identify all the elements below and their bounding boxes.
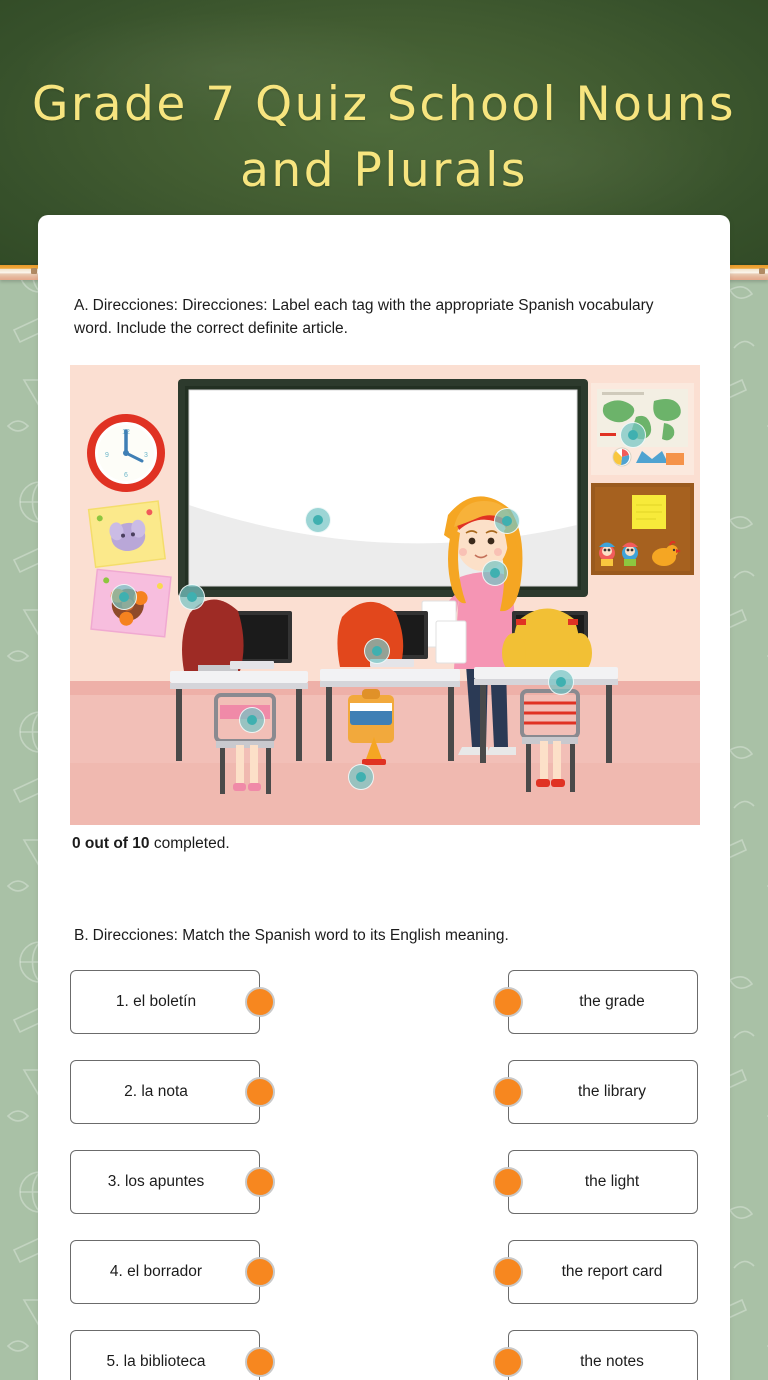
connector-dot-left[interactable] (245, 1347, 275, 1377)
page-title: Grade 7 Quiz School Nouns and Plurals (0, 0, 768, 204)
match-right-label: the notes (580, 1353, 644, 1371)
match-left-label: 4. el borrador (110, 1263, 202, 1281)
connector-dot-left[interactable] (245, 987, 275, 1017)
match-row: 3. los apuntes the light (70, 1150, 698, 1214)
match-right-label: the library (578, 1083, 646, 1101)
chalk-ledge-right (726, 263, 768, 280)
match-right-label: the report card (562, 1263, 663, 1281)
tag-marker[interactable] (305, 507, 331, 533)
tag-marker[interactable] (239, 707, 265, 733)
tag-marker[interactable] (179, 584, 205, 610)
section-a-directions: A.Direcciones: Direcciones: Label each t… (70, 295, 698, 341)
connector-dot-right[interactable] (493, 1257, 523, 1287)
match-row: 1. el boletín the grade (70, 970, 698, 1034)
match-right-box[interactable]: the light (508, 1150, 698, 1214)
match-left-label: 5. la biblioteca (106, 1353, 205, 1371)
progress-status: 0 out of 10 completed. (70, 835, 698, 853)
svg-text:6: 6 (124, 472, 128, 479)
section-b: B.Direcciones: Match the Spanish word to… (70, 853, 698, 1380)
tag-marker[interactable] (348, 764, 374, 790)
match-right-box[interactable]: the notes (508, 1330, 698, 1380)
match-left-label: 1. el boletín (116, 993, 196, 1011)
tag-marker[interactable] (364, 638, 390, 664)
connector-dot-left[interactable] (245, 1167, 275, 1197)
match-row: 4. el borrador the report card (70, 1240, 698, 1304)
match-left-box[interactable]: 1. el boletín (70, 970, 260, 1034)
tag-marker[interactable] (494, 508, 520, 534)
match-right-box[interactable]: the report card (508, 1240, 698, 1304)
connector-dot-left[interactable] (245, 1077, 275, 1107)
svg-text:9: 9 (105, 452, 109, 459)
chalk-ledge-left (0, 263, 40, 280)
match-left-box[interactable]: 5. la biblioteca (70, 1330, 260, 1380)
match-left-label: 2. la nota (124, 1083, 188, 1101)
tag-marker[interactable] (111, 584, 137, 610)
match-right-box[interactable]: the library (508, 1060, 698, 1124)
section-a: A.Direcciones: Direcciones: Label each t… (70, 215, 698, 853)
match-row: 5. la biblioteca the notes (70, 1330, 698, 1380)
connector-dot-right[interactable] (493, 1077, 523, 1107)
section-a-directions-text: Direcciones: Direcciones: Label each tag… (74, 297, 654, 337)
classroom-illustration: 123 69 (70, 365, 700, 825)
match-left-box[interactable]: 2. la nota (70, 1060, 260, 1124)
matching-grid: 1. el boletín the grade 2. la nota the l… (70, 970, 698, 1380)
match-left-box[interactable]: 3. los apuntes (70, 1150, 260, 1214)
tag-marker[interactable] (548, 669, 574, 695)
connector-dot-left[interactable] (245, 1257, 275, 1287)
match-left-box[interactable]: 4. el borrador (70, 1240, 260, 1304)
match-row: 2. la nota the library (70, 1060, 698, 1124)
progress-suffix: completed. (150, 835, 230, 852)
match-right-box[interactable]: the grade (508, 970, 698, 1034)
match-right-label: the light (585, 1173, 639, 1191)
section-b-label: B. (74, 927, 89, 944)
connector-dot-right[interactable] (493, 987, 523, 1017)
svg-text:3: 3 (144, 452, 148, 459)
tag-marker[interactable] (482, 560, 508, 586)
progress-count: 0 out of 10 (72, 835, 150, 852)
match-right-label: the grade (579, 993, 645, 1011)
match-left-label: 3. los apuntes (108, 1173, 205, 1191)
section-b-directions: B.Direcciones: Match the Spanish word to… (70, 925, 698, 948)
connector-dot-right[interactable] (493, 1167, 523, 1197)
section-a-label: A. (74, 297, 89, 314)
connector-dot-right[interactable] (493, 1347, 523, 1377)
section-b-directions-text: Direcciones: Match the Spanish word to i… (93, 927, 509, 944)
tag-marker[interactable] (620, 422, 646, 448)
worksheet-card: A.Direcciones: Direcciones: Label each t… (38, 215, 730, 1380)
